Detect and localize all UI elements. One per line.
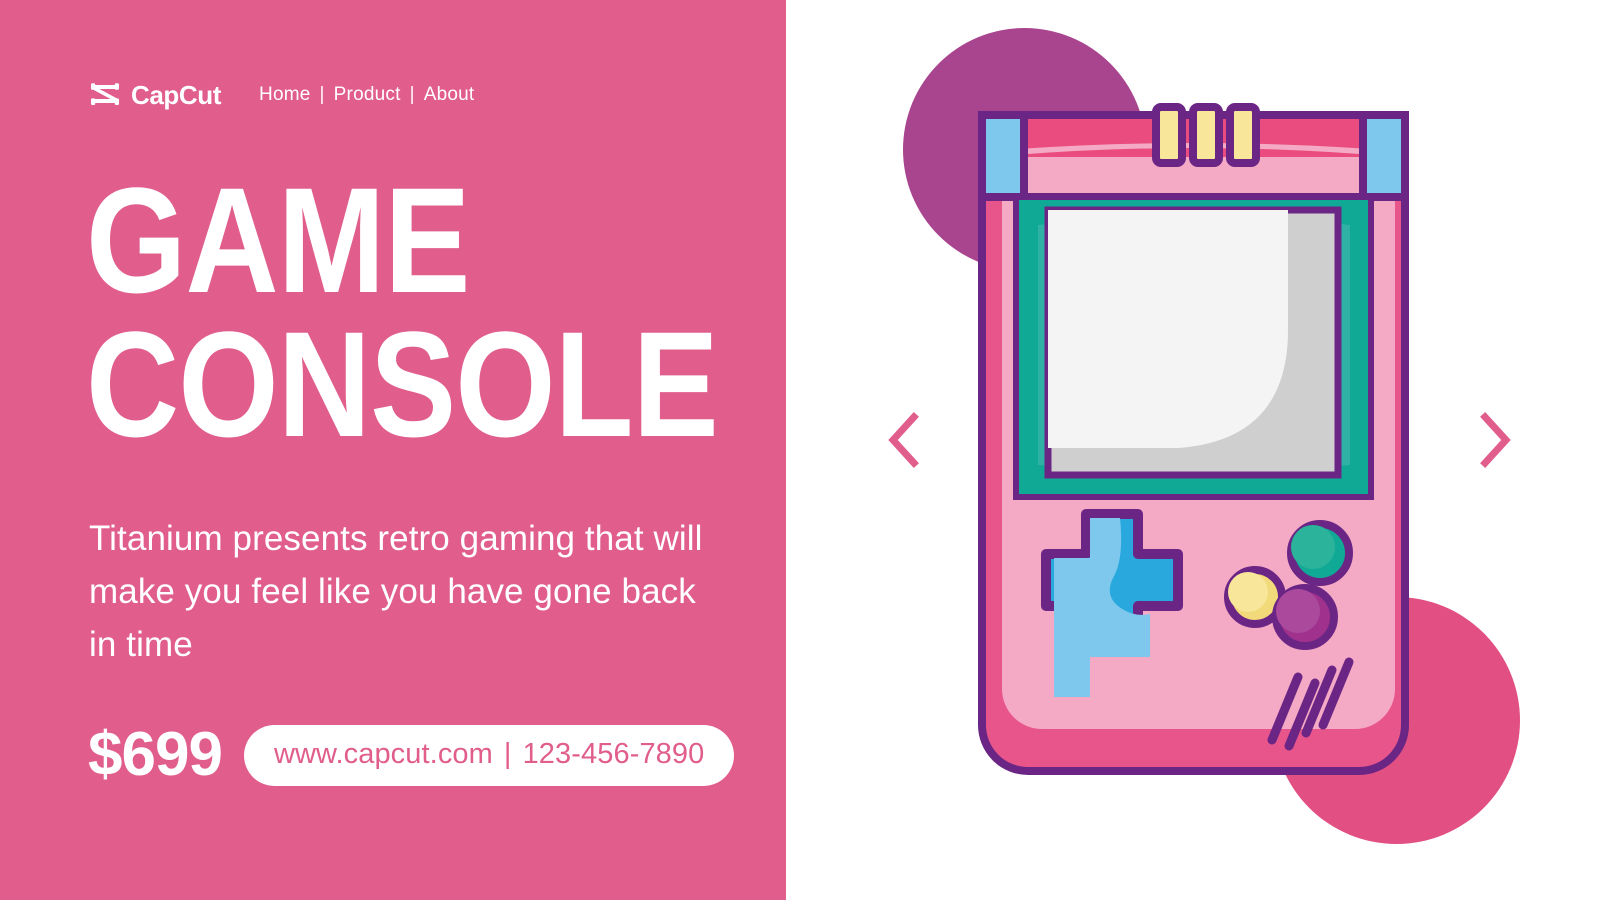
chevron-left-icon — [886, 412, 920, 468]
button-purple — [1276, 588, 1334, 646]
button-teal — [1291, 524, 1349, 582]
nav-item-about[interactable]: About — [424, 84, 475, 106]
nav-item-product[interactable]: Product — [334, 84, 401, 106]
headline-line-2: CONSOLE — [86, 312, 654, 456]
retro-handheld-game-console-illustration — [976, 97, 1411, 779]
cartridge-tabs — [1156, 107, 1256, 163]
brand-name: CapCut — [131, 82, 221, 108]
carousel-prev-button[interactable] — [886, 412, 920, 468]
chevron-right-icon — [1479, 412, 1513, 468]
product-stage — [786, 0, 1600, 900]
capcut-hourglass-icon — [88, 78, 122, 112]
nav-separator: | — [410, 84, 415, 106]
hero-description: Titanium presents retro gaming that will… — [89, 512, 729, 672]
contact-separator: | — [504, 738, 512, 771]
nav-separator: | — [320, 84, 325, 106]
promo-banner: CapCut Home | Product | About GAME CONSO… — [0, 0, 1600, 900]
carousel-next-button[interactable] — [1479, 412, 1513, 468]
main-nav: Home | Product | About — [259, 84, 474, 106]
website-url: www.capcut.com — [274, 738, 493, 771]
page-title: GAME CONSOLE — [86, 168, 746, 456]
price-label: $699 — [88, 724, 222, 786]
console-screen — [1048, 210, 1338, 475]
nav-item-home[interactable]: Home — [259, 84, 310, 106]
headline-line-1: GAME — [86, 168, 654, 312]
shoulder-button-left — [982, 115, 1024, 197]
price-and-contact-row: $699 www.capcut.com | 123-456-7890 — [88, 724, 734, 786]
site-header: CapCut Home | Product | About — [88, 78, 474, 112]
phone-number: 123-456-7890 — [523, 738, 705, 771]
contact-pill[interactable]: www.capcut.com | 123-456-7890 — [244, 725, 734, 786]
brand-logo[interactable]: CapCut — [88, 78, 221, 112]
shoulder-button-right — [1363, 115, 1405, 197]
